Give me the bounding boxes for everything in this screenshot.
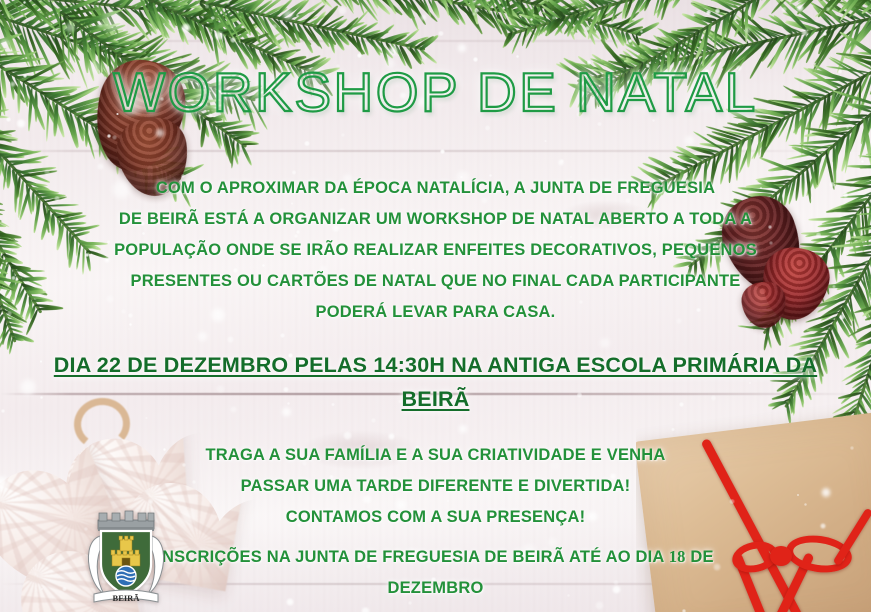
beira-coat-of-arms: BEIRÃ [82,506,170,606]
invite-line: CONTAMOS COM A SUA PRESENÇA! [120,502,751,533]
event-date-text: DIA 22 DE DEZEMBRO PELAS 14:30H NA ANTIG… [54,353,817,411]
mural-crown-icon [98,511,154,531]
crest-banner-label: BEIRÃ [113,593,141,603]
christmas-workshop-poster: WORKSHOP DE NATAL COM O APROXIMAR DA ÉPO… [0,0,871,612]
intro-line: DE BEIRÃ ESTÁ A ORGANIZAR UM WORKSHOP DE… [70,204,801,235]
crest-banner: BEIRÃ [94,590,158,603]
page-title: WORKSHOP DE NATAL [0,60,871,124]
invite-line: PASSAR UMA TARDE DIFERENTE E DIVERTIDA! [120,471,751,502]
signup-deadline-day: 18 [669,547,686,566]
intro-line: COM O APROXIMAR DA ÉPOCA NATALÍCIA, A JU… [70,173,801,204]
intro-line: PRESENTES OU CARTÕES DE NATAL QUE NO FIN… [70,266,801,297]
water-roundel [116,566,136,586]
intro-line: PODERÁ LEVAR PARA CASA. [70,297,801,328]
invite-line: TRAGA A SUA FAMÍLIA E A SUA CRIATIVIDADE… [120,440,751,471]
intro-paragraph: COM O APROXIMAR DA ÉPOCA NATALÍCIA, A JU… [0,173,871,328]
intro-line: POPULAÇÃO ONDE SE IRÃO REALIZAR ENFEITES… [70,235,801,266]
event-date-highlight: DIA 22 DE DEZEMBRO PELAS 14:30H NA ANTIG… [0,348,871,416]
signup-prefix: INSCRIÇÕES NA JUNTA DE FREGUESIA DE BEIR… [157,548,668,566]
